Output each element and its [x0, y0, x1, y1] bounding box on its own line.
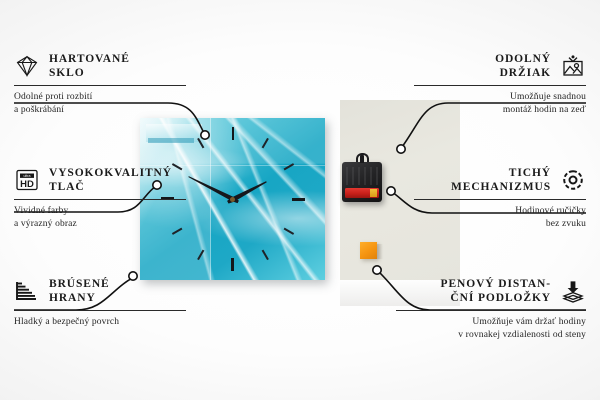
movement-shaft	[360, 155, 364, 163]
feature-header: ODOLNÝ DRŽIAK	[414, 52, 586, 80]
feature-description: Vividné farby a výrazný obraz	[14, 205, 186, 230]
feature-desc-line1: Hodinové ručičky	[515, 206, 586, 216]
feature-ground-edges: BRÚSENÉ HRANY Hladký a bezpečný povrch	[14, 277, 186, 329]
feature-tempered-glass: HARTOVANÉ SKLO Odolné proti rozbití a po…	[14, 52, 186, 116]
feature-divider	[414, 85, 586, 86]
gear-icon	[560, 168, 586, 192]
foam-pad-icon	[560, 279, 586, 303]
feature-divider	[414, 199, 586, 200]
feature-title-line2: ČNÍ PODLOŽKY	[450, 292, 551, 304]
svg-text:ultra: ultra	[24, 174, 31, 178]
feature-description: Odolné proti rozbití a poškrábání	[14, 91, 186, 116]
feature-title: ODOLNÝ DRŽIAK	[495, 52, 551, 80]
feature-header: PENOVÝ DISTAN- ČNÍ PODLOŽKY	[396, 277, 586, 305]
feature-title: HARTOVANÉ SKLO	[49, 52, 130, 80]
feature-header: BRÚSENÉ HRANY	[14, 277, 186, 305]
feature-divider	[396, 310, 586, 311]
foam-spacer-pad	[360, 242, 377, 259]
feature-desc-line1: Hladký a bezpečný povrch	[14, 317, 119, 327]
feature-foam-spacers: PENOVÝ DISTAN- ČNÍ PODLOŽKY Umožňuje vám…	[396, 277, 586, 341]
product-photo	[140, 100, 460, 280]
feature-desc-line2: a poškrábání	[14, 105, 64, 115]
feature-header: TICHÝ MECHANIZMUS	[414, 166, 586, 194]
feature-high-quality-print: ultra HD VYSOKOKVALITNÝ TLAČ Vividné far…	[14, 166, 186, 230]
ground-edges-icon	[14, 279, 40, 303]
feature-title-line2: MECHANIZMUS	[451, 181, 551, 193]
feature-title-line1: BRÚSENÉ	[49, 278, 110, 290]
pattern-band	[148, 138, 194, 143]
diamond-icon	[14, 54, 40, 78]
picture-hanger-icon	[560, 54, 586, 78]
feature-header: HARTOVANÉ SKLO	[14, 52, 186, 80]
feature-silent-mechanism: TICHÝ MECHANIZMUS Hodinové ručičky bez z…	[414, 166, 586, 230]
feature-title-line2: DRŽIAK	[500, 67, 551, 79]
feature-desc-line2: a výrazný obraz	[14, 219, 77, 229]
feature-desc-line2: montáž hodin na zeď	[503, 105, 586, 115]
feature-title: TICHÝ MECHANIZMUS	[451, 166, 551, 194]
feature-title: PENOVÝ DISTAN- ČNÍ PODLOŽKY	[441, 277, 551, 305]
feature-divider	[14, 85, 186, 86]
feature-title: VYSOKOKVALITNÝ TLAČ	[49, 166, 172, 194]
feature-title-line1: PENOVÝ DISTAN-	[441, 278, 551, 290]
infographic-canvas: HARTOVANÉ SKLO Odolné proti rozbití a po…	[0, 0, 600, 400]
feature-desc-line1: Umožňuje vám držať hodiny	[472, 317, 586, 327]
feature-desc-line1: Odolné proti rozbití	[14, 92, 92, 102]
feature-title-line1: TICHÝ	[509, 167, 551, 179]
feature-title: BRÚSENÉ HRANY	[49, 277, 110, 305]
feature-description: Umožňuje vám držať hodiny v rovnakej vzd…	[396, 316, 586, 341]
aa-battery	[345, 188, 379, 198]
feature-title-line2: HRANY	[49, 292, 96, 304]
feature-desc-line2: bez zvuku	[546, 219, 586, 229]
glass-seam-vertical	[210, 118, 211, 280]
feature-description: Umožňuje snadnou montáž hodin na zeď	[414, 91, 586, 116]
feature-divider	[14, 199, 186, 200]
feature-desc-line1: Umožňuje snadnou	[510, 92, 586, 102]
feature-title-line1: HARTOVANÉ	[49, 53, 130, 65]
clock-center-cap	[230, 197, 235, 202]
feature-description: Hodinové ručičky bez zvuku	[414, 205, 586, 230]
feature-title-line1: VYSOKOKVALITNÝ	[49, 167, 172, 179]
feature-desc-line2: v rovnakej vzdialenosti od steny	[458, 330, 586, 340]
feature-divider	[14, 310, 186, 311]
feature-desc-line1: Vividné farby	[14, 206, 68, 216]
ultra-hd-icon: ultra HD	[14, 168, 40, 192]
movement-texture	[346, 167, 378, 185]
feature-title-line1: ODOLNÝ	[495, 53, 551, 65]
feature-durable-hanger: ODOLNÝ DRŽIAK Umožňuje snadnou montáž ho…	[414, 52, 586, 116]
feature-title-line2: TLAČ	[49, 181, 85, 193]
clock-movement	[342, 162, 382, 202]
svg-text:HD: HD	[20, 179, 34, 190]
feature-header: ultra HD VYSOKOKVALITNÝ TLAČ	[14, 166, 186, 194]
feature-description: Hladký a bezpečný povrch	[14, 316, 186, 329]
feature-title-line2: SKLO	[49, 67, 85, 79]
